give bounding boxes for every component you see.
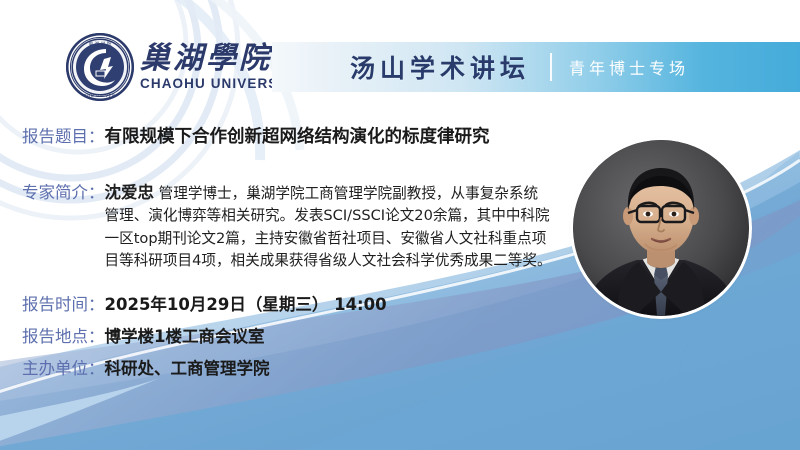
speaker-name: 沈爱忠 [105,183,155,202]
organizer-row: 主办单位： 科研处、工商管理学院 [22,358,270,380]
speaker-portrait [573,140,749,316]
lecture-time-label: 报告时间： [22,294,105,316]
lecture-time-value: 2025年10月29日（星期三） 14:00 [105,294,387,316]
bio-line: 管理、演化博弈等相关研究。发表SCI/SSCI论文20余篇，其中中科院 [105,205,530,227]
lecture-time-row: 报告时间： 2025年10月29日（星期三） 14:00 [22,294,387,316]
speaker-bio-label: 专家简介： [22,182,105,204]
bio-text-1: 管理学博士，巢湖学院工商管理学院副教授，从事复杂系统 [154,185,538,202]
organizer-label: 主办单位： [22,358,105,380]
lecture-title-label: 报告题目： [22,126,105,148]
bio-line: 一区top期刊论文2篇，主持安徽省哲社项目、安徽省人文社科重点项 [105,228,530,250]
speaker-bio-block: 沈爱忠 管理学博士，巢湖学院工商管理学院副教授，从事复杂系统 管理、演化博弈等相… [105,182,530,273]
lecture-place-row: 报告地点： 博学楼1楼工商会议室 [22,326,264,348]
bio-line: 目等科研项目4项，相关成果获得省级人文社会科学优秀成果二等奖。 [105,250,530,272]
lecture-title-row: 报告题目： 有限规模下合作创新超网络结构演化的标度律研究 [22,126,490,150]
bio-line: 沈爱忠 管理学博士，巢湖学院工商管理学院副教授，从事复杂系统 [105,182,530,205]
lecture-place-label: 报告地点： [22,326,105,348]
lecture-title-value: 有限规模下合作创新超网络结构演化的标度律研究 [105,126,490,150]
seminar-poster: 巢 湖 学 院 CHAOHU UNIVERSITY 巢湖學院 CHAOHU UN… [0,0,800,450]
lecture-place-value: 博学楼1楼工商会议室 [105,326,265,348]
organizer-value: 科研处、工商管理学院 [105,358,270,380]
speaker-bio-row: 专家简介： 沈爱忠 管理学博士，巢湖学院工商管理学院副教授，从事复杂系统 管理、… [22,182,542,273]
